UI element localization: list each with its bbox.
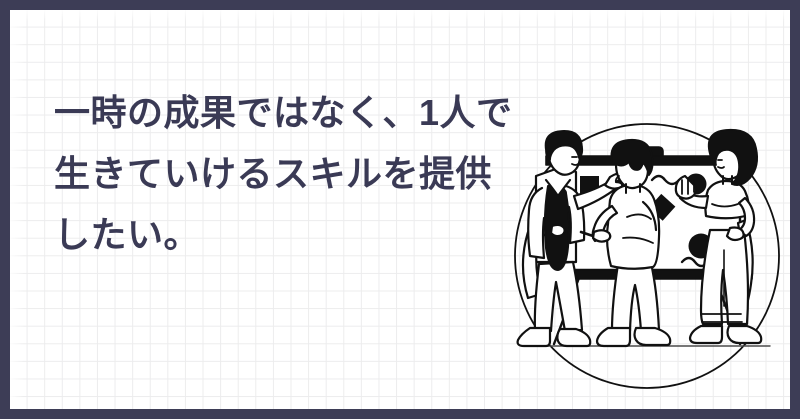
left-shoe-2 [557,329,590,346]
slide-canvas: 一時の成果ではなく、1人で生きていけるスキルを提供したい。 [0,0,800,419]
left-hand-lower [551,225,565,236]
right-shoe-2 [728,326,762,343]
right-shoe-1 [690,326,722,343]
center-torso [607,185,659,269]
page-title: 一時の成果ではなく、1人で生きていけるスキルを提供したい。 [54,82,514,265]
right-hip-hand [727,228,744,241]
center-legs [612,263,659,331]
left-shoe-1 [518,328,550,346]
center-hand [593,230,610,241]
center-shoe-1 [597,328,630,346]
center-shoe-2 [635,328,671,345]
left-legs [535,262,582,331]
illustration-svg [502,114,790,400]
graph-paper-background: 一時の成果ではなく、1人で生きていけるスキルを提供したい。 [10,10,790,409]
illustration-three-people-at-presentation-board [502,114,790,400]
